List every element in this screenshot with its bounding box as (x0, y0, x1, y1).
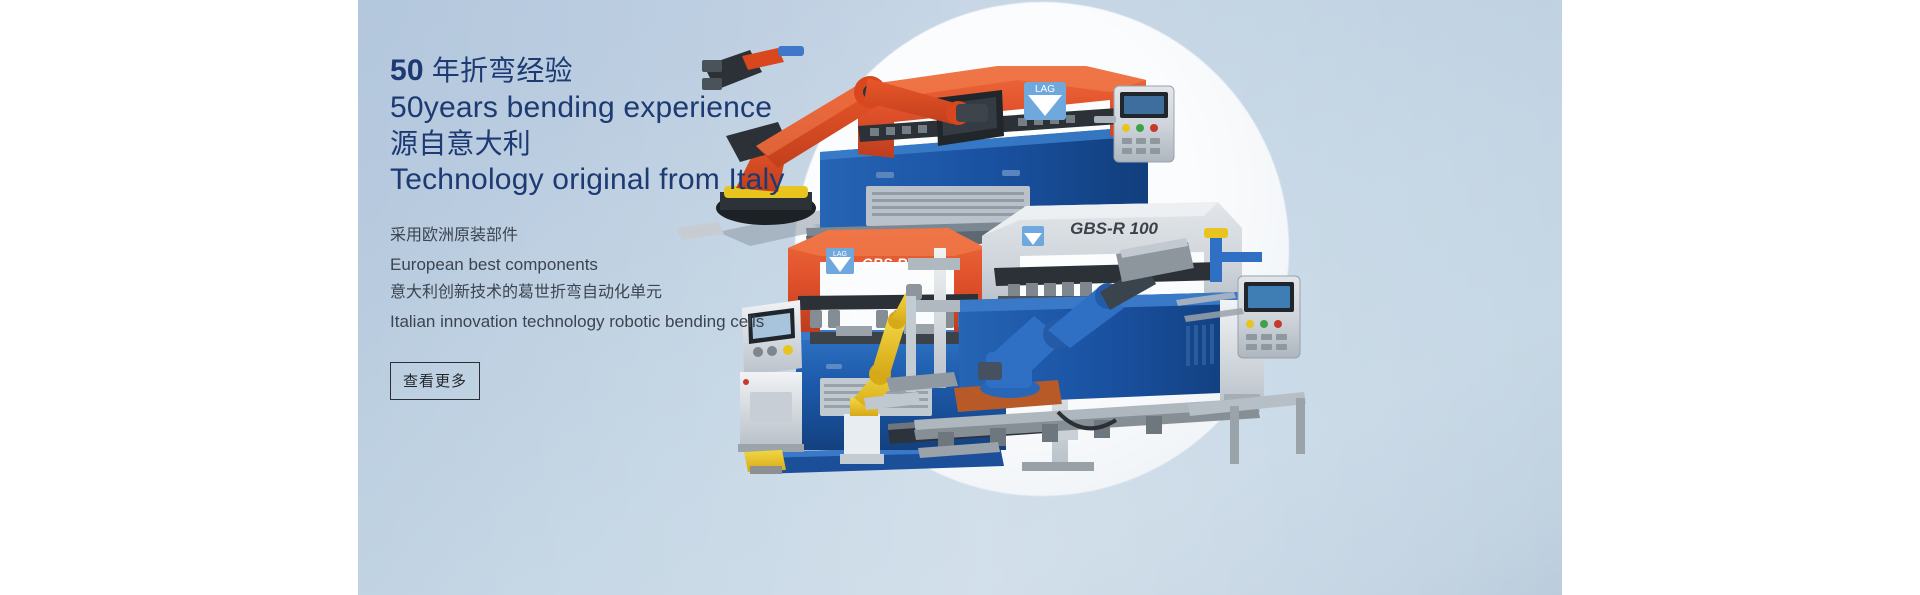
headline-line-3: 源自意大利 (390, 130, 1010, 158)
subcopy-line-1: 采用欧洲原装部件 (390, 223, 1010, 249)
banner-copy: 50 年折弯经验 50years bending experience 源自意大… (390, 56, 1010, 400)
headline-line-4: Technology original from Italy (390, 165, 1010, 195)
view-more-button[interactable]: 查看更多 (390, 362, 480, 400)
headline-block: 50 年折弯经验 50years bending experience 源自意大… (390, 56, 1010, 195)
manipulator-station (1010, 348, 1106, 471)
stock-bars (1176, 292, 1244, 322)
subcopy-line-4: Italian innovation technology robotic be… (390, 308, 1010, 336)
subcopy-line-2: European best components (390, 251, 1010, 279)
subcopy-line-3: 意大利创新技术的葛世折弯自动化单元 (390, 280, 1010, 306)
control-pendant-1 (1094, 86, 1174, 162)
lag-logo-badge-3 (1022, 226, 1044, 246)
conveyor-track (914, 392, 1306, 464)
headline-years-number: 50 (390, 54, 424, 87)
model-label-gbs-r-100: GBS-R 100 (1070, 219, 1158, 238)
headline-line-2: 50years bending experience (390, 93, 1010, 123)
svg-text:LAG: LAG (1035, 84, 1055, 95)
headline-line-1-text: 年折弯经验 (424, 55, 573, 86)
lag-logo-badge-1: LAG (1024, 82, 1066, 120)
headline-line-1: 50 年折弯经验 (390, 56, 1010, 86)
control-pendant-2 (1204, 228, 1300, 358)
hero-banner: LAG (358, 0, 1562, 595)
banner-page: LAG (0, 0, 1920, 595)
subcopy-block: 采用欧洲原装部件 European best components 意大利创新技… (390, 223, 1010, 336)
cta-wrapper: 查看更多 (390, 362, 1010, 400)
